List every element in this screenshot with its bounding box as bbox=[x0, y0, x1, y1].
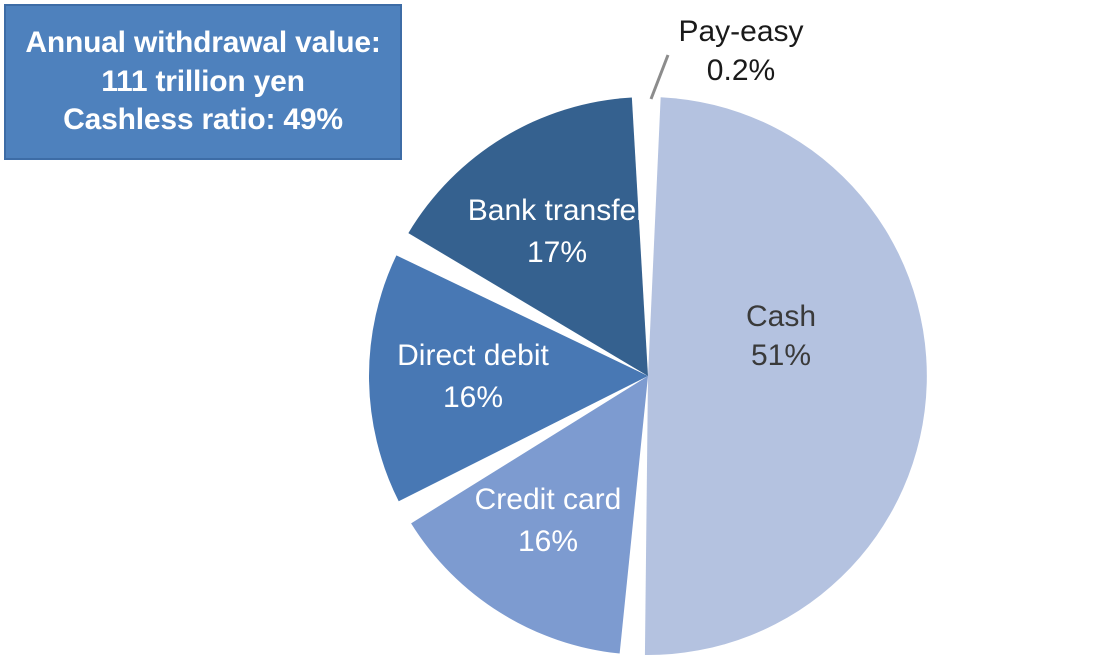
pie-slice-group bbox=[369, 97, 927, 655]
pie-label-pay-easy-name: Pay-easy bbox=[678, 15, 803, 48]
pie-slice-cash[interactable] bbox=[645, 97, 927, 655]
pie-label-credit-card-value: 16% bbox=[518, 525, 578, 558]
pay-easy-leader-line bbox=[651, 55, 668, 99]
pie-label-pay-easy-value: 0.2% bbox=[707, 54, 775, 87]
pie-label-cash-name: Cash bbox=[746, 300, 816, 333]
pie-label-bank-transfer-name: Bank transfer bbox=[468, 194, 646, 227]
pie-label-credit-card-name: Credit card bbox=[475, 483, 622, 516]
pie-chart: Cash 51% Bank transfer 17% Direct debit … bbox=[0, 0, 1120, 668]
pie-label-bank-transfer-value: 17% bbox=[527, 236, 587, 269]
chart-canvas: Annual withdrawal value: 111 trillion ye… bbox=[0, 0, 1120, 668]
pie-label-cash-value: 51% bbox=[751, 339, 811, 372]
pie-label-direct-debit-name: Direct debit bbox=[397, 339, 549, 372]
pie-label-direct-debit-value: 16% bbox=[443, 381, 503, 414]
